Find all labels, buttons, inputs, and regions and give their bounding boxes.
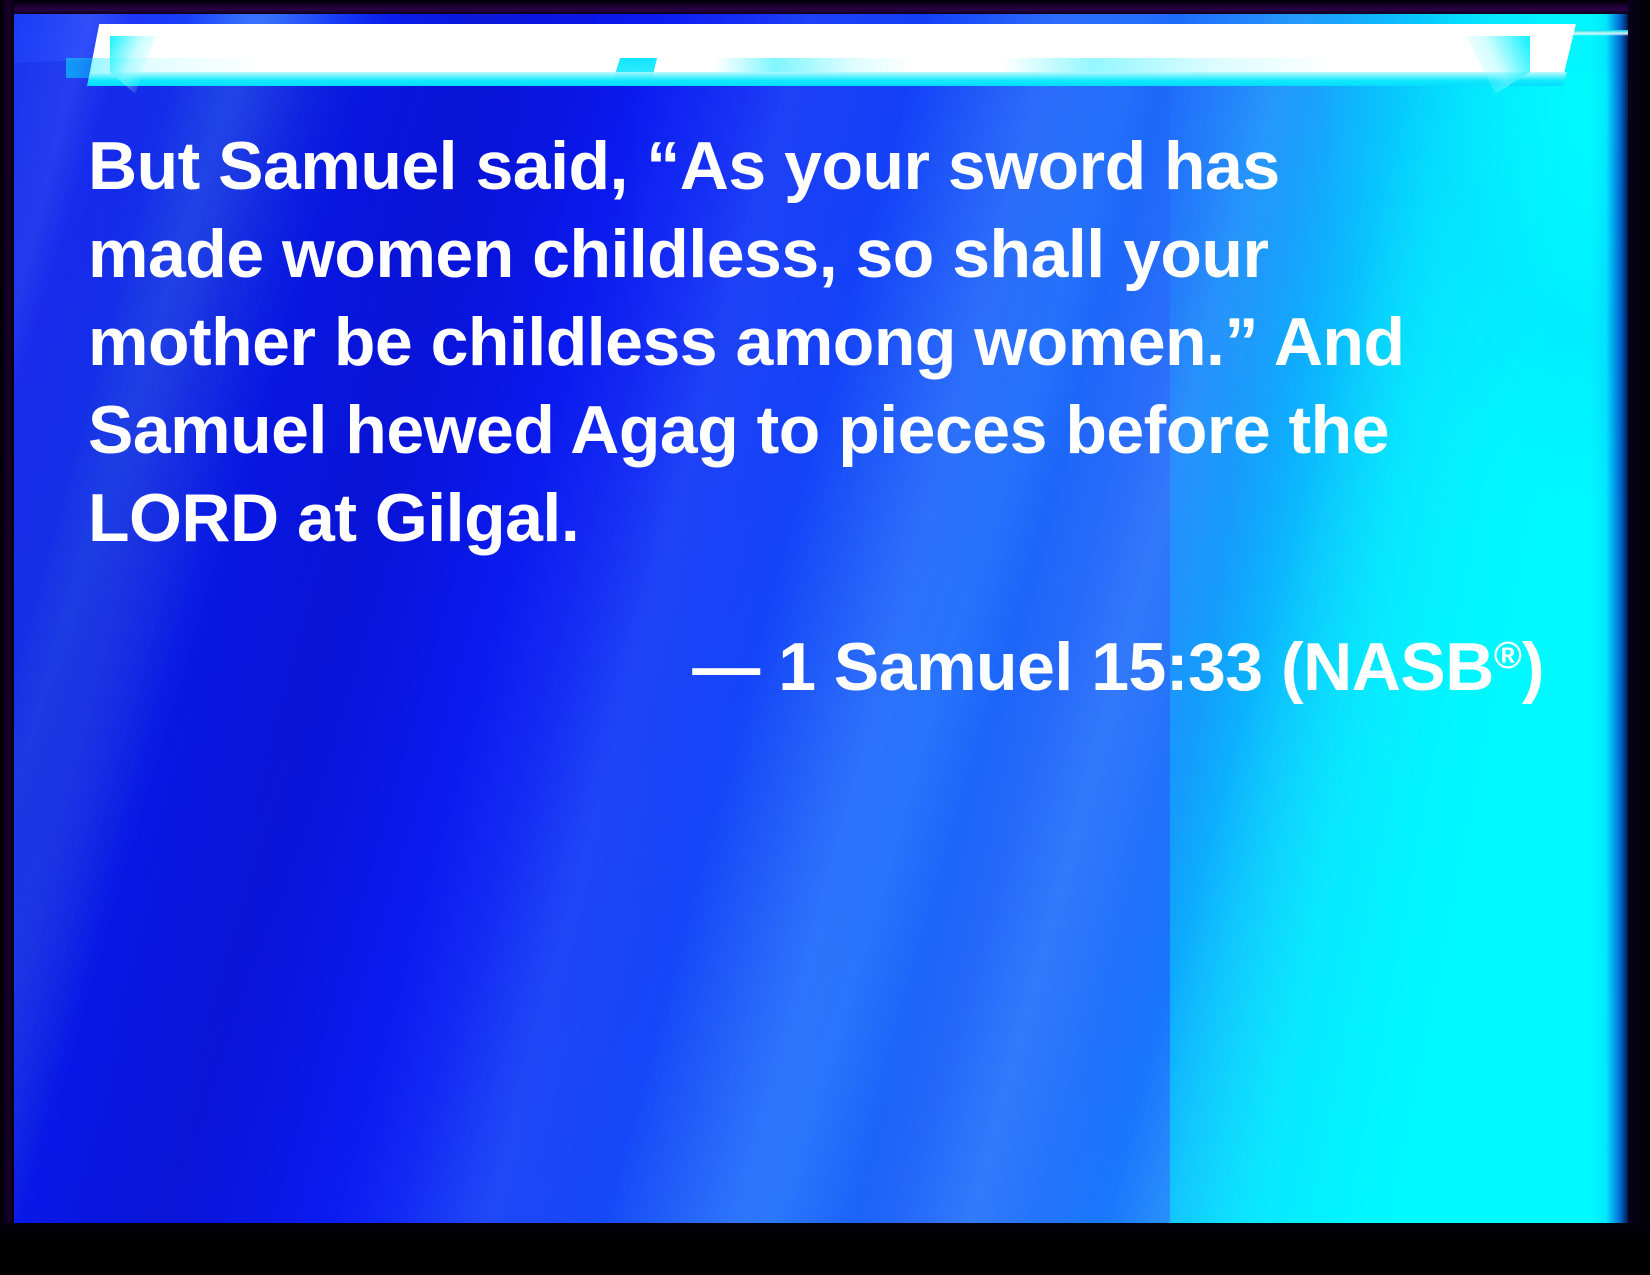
citation-reference: 1 Samuel 15:33	[778, 629, 1262, 705]
verse-line-2: made women childless, so shall your	[88, 210, 1558, 298]
slide-frame: But Samuel said, “As your sword has made…	[0, 0, 1650, 1275]
verse-citation: — 1 Samuel 15:33 (NASB®)	[88, 612, 1558, 711]
verse-line-4: Samuel hewed Agag to pieces before the	[88, 386, 1558, 474]
frame-border-bottom	[0, 1223, 1650, 1275]
header-band	[66, 24, 1576, 86]
verse-text-block: But Samuel said, “As your sword has made…	[88, 122, 1558, 711]
verse-line-1: But Samuel said, “As your sword has	[88, 122, 1558, 210]
verse-line-3: mother be childless among women.” And	[88, 298, 1558, 386]
frame-border-top	[0, 0, 1650, 14]
background-right-edge-fade	[1590, 14, 1630, 1225]
slide-canvas: But Samuel said, “As your sword has made…	[14, 14, 1630, 1225]
verse-line-5: LORD at Gilgal.	[88, 474, 1558, 562]
frame-border-right	[1628, 0, 1650, 1275]
frame-border-left	[0, 0, 14, 1275]
header-band-cyan-underline	[66, 72, 1576, 86]
citation-translation-open: (NASB	[1281, 629, 1494, 705]
registered-trademark-icon: ®	[1494, 635, 1522, 677]
citation-dash: —	[692, 629, 760, 705]
citation-translation-close: )	[1522, 629, 1544, 705]
